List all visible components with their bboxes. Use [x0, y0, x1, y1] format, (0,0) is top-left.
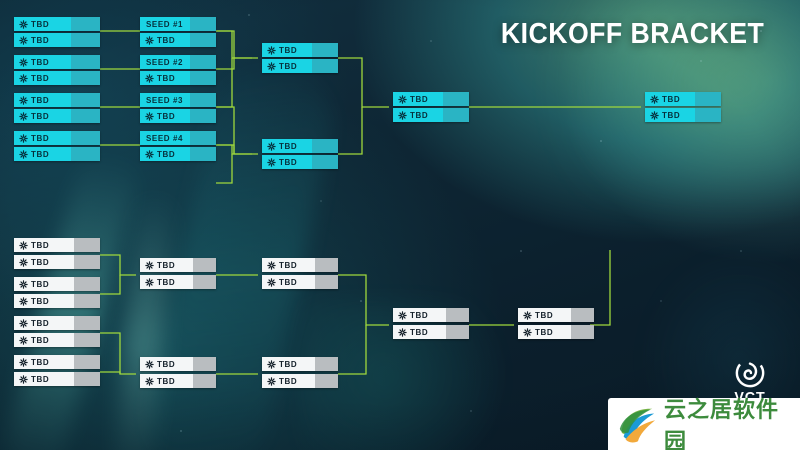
team-placeholder-icon: [19, 280, 28, 289]
connector-line: [100, 255, 136, 275]
match-slot-l-r3-m2-1[interactable]: TBD: [262, 357, 338, 371]
connector-line: [100, 372, 120, 374]
slot-label: TBD: [410, 95, 428, 104]
bracket-stage: KICKOFF BRACKET TBDTBDTBDTBDTBDTBDTBDTBD…: [0, 0, 800, 450]
match-slot-u-r3-m2-2[interactable]: TBD: [262, 155, 338, 169]
slot-label: TBD: [279, 377, 297, 386]
slot-label: TBD: [31, 20, 49, 29]
team-placeholder-icon: [145, 36, 154, 45]
team-placeholder-icon: [398, 111, 407, 120]
match-slot-l-r2-m2-2[interactable]: TBD: [140, 374, 216, 388]
match-slot-u-r5-m1-1[interactable]: TBD: [645, 92, 721, 106]
slot-label: TBD: [31, 58, 49, 67]
connector-line: [338, 325, 366, 374]
slot-label: TBD: [31, 36, 49, 45]
match-slot-u-r1-m2-1[interactable]: TBD: [14, 55, 100, 69]
team-placeholder-icon: [19, 375, 28, 384]
team-placeholder-icon: [19, 241, 28, 250]
match-slot-u-r1-m1-1[interactable]: TBD: [14, 17, 100, 31]
connector-line: [338, 275, 389, 325]
connector-line: [100, 275, 120, 294]
connector-line: [216, 58, 232, 107]
team-placeholder-icon: [19, 150, 28, 159]
connector-line: [216, 145, 234, 154]
slot-label: TBD: [535, 328, 553, 337]
team-placeholder-icon: [145, 150, 154, 159]
match-slot-u-r2-m2-2[interactable]: TBD: [140, 71, 216, 85]
match-slot-u-r1-m4-1[interactable]: TBD: [14, 131, 100, 145]
match-slot-l-r1-m3-1[interactable]: TBD: [14, 316, 100, 330]
match-slot-u-r1-m3-1[interactable]: TBD: [14, 93, 100, 107]
slot-label: TBD: [31, 74, 49, 83]
slot-label: SEED #1: [146, 20, 183, 29]
slot-label: TBD: [31, 358, 49, 367]
slot-label: TBD: [535, 311, 553, 320]
team-placeholder-icon: [19, 36, 28, 45]
team-placeholder-icon: [650, 95, 659, 104]
connector-line: [338, 58, 389, 107]
slot-label: TBD: [279, 360, 297, 369]
slot-label: TBD: [31, 336, 49, 345]
slot-label: TBD: [31, 134, 49, 143]
slot-label: TBD: [410, 111, 428, 120]
slot-label: SEED #3: [146, 96, 183, 105]
team-placeholder-icon: [19, 134, 28, 143]
match-slot-u-r3-m2-1[interactable]: TBD: [262, 139, 338, 153]
match-slot-l-r1-m4-1[interactable]: TBD: [14, 355, 100, 369]
match-slot-l-r3-m2-2[interactable]: TBD: [262, 374, 338, 388]
team-placeholder-icon: [145, 360, 154, 369]
slot-label: TBD: [157, 278, 175, 287]
match-slot-u-r3-m1-1[interactable]: TBD: [262, 43, 338, 57]
team-placeholder-icon: [145, 112, 154, 121]
connector-line: [100, 333, 136, 374]
bracket-connectors: [0, 0, 800, 450]
slot-label: TBD: [31, 150, 49, 159]
match-slot-u-r1-m1-2[interactable]: TBD: [14, 33, 100, 47]
match-slot-u-r2-m3-2[interactable]: TBD: [140, 109, 216, 123]
slot-label: SEED #2: [146, 58, 183, 67]
match-slot-u-r2-m4-2[interactable]: TBD: [140, 147, 216, 161]
slot-label: TBD: [279, 261, 297, 270]
slot-label: TBD: [157, 150, 175, 159]
team-placeholder-icon: [145, 261, 154, 270]
team-placeholder-icon: [267, 62, 276, 71]
slot-label: TBD: [31, 375, 49, 384]
connector-line: [216, 58, 234, 69]
match-slot-l-r1-m2-1[interactable]: TBD: [14, 277, 100, 291]
team-placeholder-icon: [19, 336, 28, 345]
slot-label: TBD: [157, 377, 175, 386]
team-placeholder-icon: [145, 377, 154, 386]
match-slot-l-r4-m1-1[interactable]: TBD: [393, 308, 469, 322]
connector-line: [338, 107, 362, 154]
team-placeholder-icon: [267, 261, 276, 270]
match-slot-u-r2-m1-1[interactable]: SEED #1: [140, 17, 216, 31]
team-placeholder-icon: [19, 96, 28, 105]
slot-label: TBD: [157, 261, 175, 270]
match-slot-u-r2-m4-1[interactable]: SEED #4: [140, 131, 216, 145]
match-slot-l-r4-m1-2[interactable]: TBD: [393, 325, 469, 339]
slot-label: TBD: [279, 142, 297, 151]
team-placeholder-icon: [267, 46, 276, 55]
slot-label: TBD: [279, 46, 297, 55]
connector-line: [216, 107, 258, 154]
match-slot-l-r4-m1-2[interactable]: TBD: [518, 325, 594, 339]
match-slot-u-r1-m3-2[interactable]: TBD: [14, 109, 100, 123]
team-placeholder-icon: [398, 328, 407, 337]
match-slot-l-r4-m1-1[interactable]: TBD: [518, 308, 594, 322]
slot-label: TBD: [31, 241, 49, 250]
match-slot-u-r2-m3-1[interactable]: SEED #3: [140, 93, 216, 107]
match-slot-l-r2-m2-1[interactable]: TBD: [140, 357, 216, 371]
slot-label: TBD: [410, 311, 428, 320]
slot-label: TBD: [279, 158, 297, 167]
match-slot-u-r1-m2-2[interactable]: TBD: [14, 71, 100, 85]
slot-label: TBD: [31, 258, 49, 267]
slot-label: TBD: [157, 36, 175, 45]
team-placeholder-icon: [19, 112, 28, 121]
team-placeholder-icon: [398, 95, 407, 104]
match-slot-l-r3-m1-2[interactable]: TBD: [262, 275, 338, 289]
team-placeholder-icon: [267, 278, 276, 287]
team-placeholder-icon: [19, 20, 28, 29]
connector-line: [216, 31, 258, 58]
team-placeholder-icon: [267, 360, 276, 369]
slot-label: SEED #4: [146, 134, 183, 143]
slot-label: TBD: [157, 112, 175, 121]
match-slot-l-r1-m1-2[interactable]: TBD: [14, 255, 100, 269]
match-slot-l-r2-m1-2[interactable]: TBD: [140, 275, 216, 289]
match-slot-l-r1-m4-2[interactable]: TBD: [14, 372, 100, 386]
slot-label: TBD: [279, 62, 297, 71]
match-slot-l-r3-m1-1[interactable]: TBD: [262, 258, 338, 272]
match-slot-u-r2-m2-1[interactable]: SEED #2: [140, 55, 216, 69]
slot-label: TBD: [31, 297, 49, 306]
vct-swirl-icon: [735, 358, 765, 388]
team-placeholder-icon: [398, 311, 407, 320]
match-slot-u-r3-m1-2[interactable]: TBD: [262, 59, 338, 73]
slot-label: TBD: [279, 278, 297, 287]
match-slot-l-r2-m1-1[interactable]: TBD: [140, 258, 216, 272]
slot-label: TBD: [157, 360, 175, 369]
team-placeholder-icon: [19, 258, 28, 267]
slot-label: TBD: [31, 319, 49, 328]
team-placeholder-icon: [19, 297, 28, 306]
team-placeholder-icon: [523, 328, 532, 337]
slot-label: TBD: [662, 111, 680, 120]
team-placeholder-icon: [267, 377, 276, 386]
team-placeholder-icon: [19, 58, 28, 67]
yunzhiju-leaf-icon: [616, 404, 658, 444]
team-placeholder-icon: [145, 74, 154, 83]
team-placeholder-icon: [19, 74, 28, 83]
team-placeholder-icon: [19, 319, 28, 328]
slot-label: TBD: [31, 96, 49, 105]
match-slot-l-r1-m2-2[interactable]: TBD: [14, 294, 100, 308]
match-slot-u-r1-m4-2[interactable]: TBD: [14, 147, 100, 161]
team-placeholder-icon: [19, 358, 28, 367]
match-slot-u-r2-m1-2[interactable]: TBD: [140, 33, 216, 47]
slot-label: TBD: [662, 95, 680, 104]
slot-label: TBD: [410, 328, 428, 337]
team-placeholder-icon: [267, 142, 276, 151]
team-placeholder-icon: [145, 278, 154, 287]
match-slot-u-r4-m1-1[interactable]: TBD: [393, 92, 469, 106]
team-placeholder-icon: [267, 158, 276, 167]
team-placeholder-icon: [523, 311, 532, 320]
match-slot-u-r4-m1-2[interactable]: TBD: [393, 108, 469, 122]
watermark-text: 云之居软件园: [664, 392, 800, 450]
slot-label: TBD: [31, 280, 49, 289]
match-slot-l-r1-m1-1[interactable]: TBD: [14, 238, 100, 252]
slot-label: TBD: [157, 74, 175, 83]
watermark: 云之居软件园: [608, 398, 800, 450]
slot-label: TBD: [31, 112, 49, 121]
connector-line: [216, 154, 232, 183]
match-slot-u-r5-m1-2[interactable]: TBD: [645, 108, 721, 122]
match-slot-l-r1-m3-2[interactable]: TBD: [14, 333, 100, 347]
team-placeholder-icon: [650, 111, 659, 120]
